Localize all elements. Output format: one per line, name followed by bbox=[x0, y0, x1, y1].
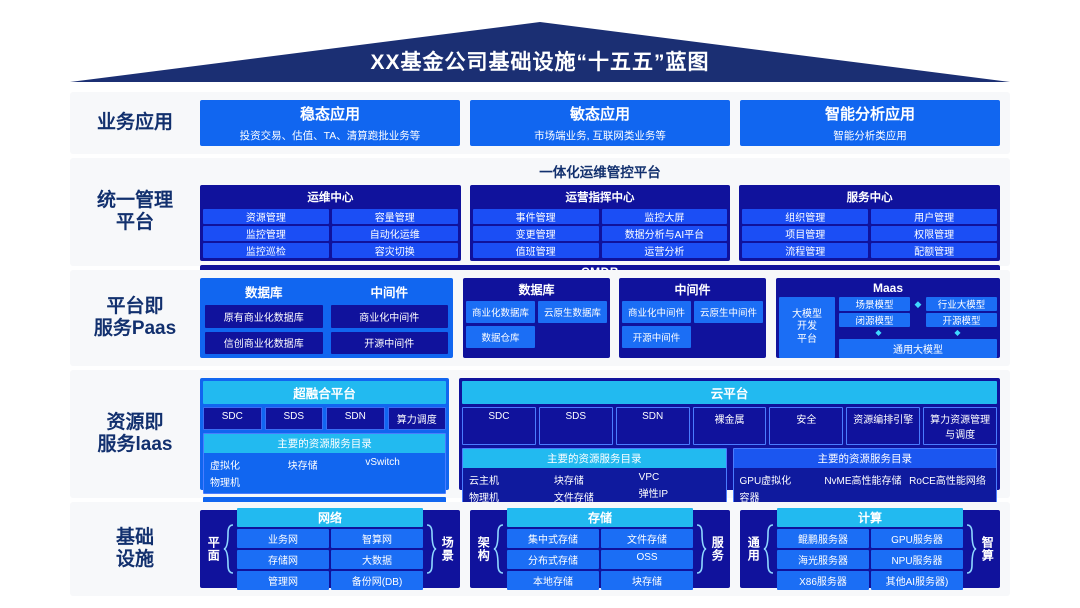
iaas-container: 超融合平台 SDC SDS SDN 算力调度 主要的资源服务目录 虚拟化 物理机 bbox=[200, 370, 1010, 498]
center-service[interactable]: 服务中心 组织管理 用户管理 项目管理 权限管理 流程管理 配额管理 bbox=[739, 185, 1000, 261]
app-card-stable[interactable]: 稳态应用 投资交易、估值、TA、清算跑批业务等 bbox=[200, 100, 460, 146]
management-centers: 运维中心 资源管理 容量管理 监控管理 自动化运维 监控巡检 容灾切换 运营指挥… bbox=[200, 185, 1000, 261]
center-cell[interactable]: 自动化运维 bbox=[332, 226, 458, 241]
infra-left-label: 架构 bbox=[476, 536, 490, 562]
row-label-paas: 平台即 服务Paas bbox=[70, 270, 200, 366]
maas-dev-platform[interactable]: 大模型 开发 平台 bbox=[779, 297, 835, 358]
paas-block-title: 中间件 bbox=[622, 281, 763, 298]
catalog-item: RoCE高性能网络 bbox=[909, 472, 990, 487]
maas-title: Maas bbox=[779, 281, 997, 295]
maas-dev-line1: 大模型 bbox=[792, 309, 822, 322]
row-label-line1: 统一管理 bbox=[97, 190, 173, 212]
row-label-line1: 平台即 bbox=[94, 296, 176, 318]
capability-tile[interactable]: SDC bbox=[203, 407, 262, 430]
paas-tile[interactable]: 商业化中间件 bbox=[331, 305, 449, 328]
infra-header: 网络 bbox=[237, 508, 423, 527]
infra-grid: 集中式存储 文件存储 分布式存储 OSS 本地存储 块存储 bbox=[507, 529, 693, 590]
management-wrap: 一体化运维管控平台 运维中心 资源管理 容量管理 监控管理 自动化运维 监控巡检… bbox=[200, 166, 1000, 258]
roof-banner: XX基金公司基础设施“十五五”蓝图 bbox=[70, 22, 1010, 82]
capability-tile[interactable]: 裸金属 bbox=[693, 407, 767, 445]
row-infrastructure: 基础 设施 平面 网络 业务网 智算网 存储网 大数据 bbox=[70, 502, 1010, 596]
brace-right-icon bbox=[696, 523, 707, 575]
catalog-column: 虚拟化 物理机 bbox=[210, 457, 284, 489]
arrow-up-icon: ◆ bbox=[918, 329, 997, 337]
infra-right-label: 智算 bbox=[980, 536, 994, 562]
brace-left-icon bbox=[763, 523, 774, 575]
catalog-column: vSwitch bbox=[365, 457, 439, 489]
center-title: 服务中心 bbox=[742, 188, 997, 207]
infra-core: 存储 集中式存储 文件存储 分布式存储 OSS 本地存储 块存储 bbox=[507, 508, 693, 590]
paas-maas-block[interactable]: Maas 大模型 开发 平台 场景模型 ◆ 行业大模型 bbox=[776, 278, 1000, 358]
catalog-item: 虚拟化 bbox=[210, 457, 284, 472]
center-grid: 组织管理 用户管理 项目管理 权限管理 流程管理 配额管理 bbox=[742, 209, 997, 258]
management-header: 一体化运维管控平台 bbox=[200, 166, 1000, 181]
maas-row-source: 闭源模型 开源模型 bbox=[839, 313, 997, 327]
center-ops[interactable]: 运维中心 资源管理 容量管理 监控管理 自动化运维 监控巡检 容灾切换 bbox=[200, 185, 461, 261]
paas-block-title: 数据库 bbox=[466, 281, 607, 298]
page-title: XX基金公司基础设施“十五五”蓝图 bbox=[70, 46, 1010, 76]
maas-general-model[interactable]: 通用大模型 bbox=[839, 339, 997, 358]
center-cell[interactable]: 监控大屏 bbox=[602, 209, 728, 224]
brace-left-icon bbox=[223, 523, 234, 575]
catalog-item: 块存储 bbox=[288, 457, 362, 472]
catalog-item: 云主机 bbox=[469, 472, 550, 487]
infra-core: 计算 鲲鹏服务器 GPU服务器 海光服务器 NPU服务器 X86服务器 其他AI… bbox=[777, 508, 963, 590]
center-cell[interactable]: 流程管理 bbox=[742, 243, 868, 258]
app-card-agile[interactable]: 敏态应用 市场端业务, 互联网类业务等 bbox=[470, 100, 730, 146]
center-cell[interactable]: 监控管理 bbox=[203, 226, 329, 241]
infra-grid: 业务网 智算网 存储网 大数据 管理网 备份网(DB) bbox=[237, 529, 423, 590]
paas-database-block[interactable]: 数据库 商业化数据库 云原生数据库 数据仓库 bbox=[463, 278, 610, 358]
app-subtitle: 智能分析类应用 bbox=[833, 128, 907, 143]
capability-row: SDC SDS SDN 裸金属 安全 资源编排引擎 算力资源管理与调度 bbox=[462, 407, 997, 445]
paas-tile[interactable]: 云原生中间件 bbox=[694, 301, 763, 323]
cloud-platform-block[interactable]: 云平台 SDC SDS SDN 裸金属 安全 资源编排引擎 算力资源管理与调度 … bbox=[459, 378, 1000, 490]
paas-tile[interactable]: 原有商业化数据库 bbox=[205, 305, 323, 328]
management-container: 一体化运维管控平台 运维中心 资源管理 容量管理 监控管理 自动化运维 监控巡检… bbox=[200, 158, 1010, 266]
center-cell[interactable]: 值班管理 bbox=[473, 243, 599, 258]
capability-tile[interactable]: 算力调度 bbox=[388, 407, 447, 430]
app-subtitle: 投资交易、估值、TA、清算跑批业务等 bbox=[240, 128, 421, 143]
infra-cell[interactable]: NPU服务器 bbox=[871, 550, 963, 569]
infra-cell[interactable]: 智算网 bbox=[331, 529, 423, 548]
infra-cell[interactable]: 分布式存储 bbox=[507, 550, 599, 569]
maas-arrow-row: ◆ ◆ bbox=[839, 329, 997, 337]
row-label-business: 业务应用 bbox=[70, 92, 200, 154]
row-business-application: 业务应用 稳态应用 投资交易、估值、TA、清算跑批业务等 敏态应用 市场端业务,… bbox=[70, 92, 1010, 154]
row-label-iaas: 资源即 服务laas bbox=[70, 370, 200, 498]
infra-cell[interactable]: 备份网(DB) bbox=[331, 571, 423, 590]
infra-block-compute[interactable]: 通用 计算 鲲鹏服务器 GPU服务器 海光服务器 NPU服务器 X86服务器 其… bbox=[740, 510, 1000, 588]
center-cell[interactable]: 容量管理 bbox=[332, 209, 458, 224]
maas-dev-line3: 平台 bbox=[792, 334, 822, 347]
platform-header: 超融合平台 bbox=[203, 381, 446, 404]
row-unified-management: 统一管理 平台 一体化运维管控平台 运维中心 资源管理 容量管理 监控管理 自动… bbox=[70, 158, 1010, 266]
paas-block-grid: 商业化数据库 云原生数据库 数据仓库 bbox=[466, 301, 607, 355]
diamond-connector-icon: ◆ bbox=[913, 297, 923, 311]
catalog-item: NvME高性能存储 bbox=[824, 472, 905, 487]
center-cell[interactable]: 监控巡检 bbox=[203, 243, 329, 258]
center-cell[interactable]: 运营分析 bbox=[602, 243, 728, 258]
hyperconverged-platform-block[interactable]: 超融合平台 SDC SDS SDN 算力调度 主要的资源服务目录 虚拟化 物理机 bbox=[200, 378, 449, 490]
paas-cloudnative-group: 数据库 商业化数据库 云原生数据库 数据仓库 中间件 商业化中间件 云原生中间件… bbox=[463, 278, 766, 358]
brace-right-icon bbox=[966, 523, 977, 575]
infra-block-storage[interactable]: 架构 存储 集中式存储 文件存储 分布式存储 OSS 本地存储 块存储 bbox=[470, 510, 730, 588]
platform-header: 云平台 bbox=[462, 381, 997, 404]
center-cell[interactable]: 配额管理 bbox=[871, 243, 997, 258]
infra-cell[interactable]: 本地存储 bbox=[507, 571, 599, 590]
capability-tile[interactable]: SDN bbox=[326, 407, 385, 430]
center-title: 运营指挥中心 bbox=[473, 188, 728, 207]
paas-col-title: 中间件 bbox=[331, 282, 449, 301]
row-label-line2: 服务Paas bbox=[94, 318, 176, 340]
catalog-column: 块存储 bbox=[288, 457, 362, 489]
center-cell[interactable]: 资源管理 bbox=[203, 209, 329, 224]
row-iaas: 资源即 服务laas 超融合平台 SDC SDS SDN 算力调度 主要的资源服… bbox=[70, 370, 1010, 498]
capability-tile[interactable]: 资源编排引擎 bbox=[846, 407, 920, 445]
row-label-infrastructure: 基础 设施 bbox=[70, 502, 200, 596]
catalog-wrap: 主要的资源服务目录 虚拟化 物理机 块存储 vSwitch bbox=[203, 433, 446, 494]
capability-tile[interactable]: 算力资源管理与调度 bbox=[923, 407, 997, 445]
center-cell[interactable]: 组织管理 bbox=[742, 209, 868, 224]
paas-tile[interactable]: 商业化数据库 bbox=[466, 301, 535, 323]
paas-block-grid: 商业化中间件 云原生中间件 开源中间件 bbox=[622, 301, 763, 355]
infra-cell[interactable]: 大数据 bbox=[331, 550, 423, 569]
paas-tile[interactable]: 信创商业化数据库 bbox=[205, 332, 323, 355]
center-cell[interactable]: 权限管理 bbox=[871, 226, 997, 241]
catalog-header: 主要的资源服务目录 bbox=[463, 449, 726, 468]
infra-right-label: 服务 bbox=[710, 536, 724, 562]
infra-left-label: 通用 bbox=[746, 536, 760, 562]
maas-dev-line2: 开发 bbox=[792, 321, 822, 334]
blueprint-page: XX基金公司基础设施“十五五”蓝图 业务应用 稳态应用 投资交易、估值、TA、清… bbox=[0, 0, 1080, 608]
center-cell[interactable]: 用户管理 bbox=[871, 209, 997, 224]
infra-grid: 鲲鹏服务器 GPU服务器 海光服务器 NPU服务器 X86服务器 其他AI服务器… bbox=[777, 529, 963, 590]
center-cell[interactable]: 变更管理 bbox=[473, 226, 599, 241]
capability-tile[interactable]: SDS bbox=[265, 407, 324, 430]
infra-header: 计算 bbox=[777, 508, 963, 527]
paas-container: 数据库 原有商业化数据库 信创商业化数据库 中间件 商业化中间件 开源中间件 数… bbox=[200, 270, 1010, 366]
center-operation-command[interactable]: 运营指挥中心 事件管理 监控大屏 变更管理 数据分析与AI平台 值班管理 运营分… bbox=[470, 185, 731, 261]
catalog-header: 主要的资源服务目录 bbox=[204, 434, 445, 453]
center-grid: 事件管理 监控大屏 变更管理 数据分析与AI平台 值班管理 运营分析 bbox=[473, 209, 728, 258]
paas-col-title: 数据库 bbox=[205, 282, 323, 301]
brace-right-icon bbox=[426, 523, 437, 575]
catalog-body: 虚拟化 物理机 块存储 vSwitch bbox=[204, 453, 445, 493]
maas-grid: 场景模型 ◆ 行业大模型 闭源模型 开源模型 ◆ ◆ bbox=[839, 297, 997, 358]
infra-cell[interactable]: 海光服务器 bbox=[777, 550, 869, 569]
center-title: 运维中心 bbox=[203, 188, 458, 207]
row-paas: 平台即 服务Paas 数据库 原有商业化数据库 信创商业化数据库 中间件 商业化… bbox=[70, 270, 1010, 366]
paas-tile-empty bbox=[694, 326, 763, 348]
business-apps-container: 稳态应用 投资交易、估值、TA、清算跑批业务等 敏态应用 市场端业务, 互联网类… bbox=[200, 92, 1010, 154]
paas-tile[interactable]: 数据仓库 bbox=[466, 326, 535, 348]
infra-cell[interactable]: 管理网 bbox=[237, 571, 329, 590]
infra-core: 网络 业务网 智算网 存储网 大数据 管理网 备份网(DB) bbox=[237, 508, 423, 590]
center-cell[interactable]: 项目管理 bbox=[742, 226, 868, 241]
spacer bbox=[913, 313, 923, 327]
capability-tile[interactable]: SDS bbox=[539, 407, 613, 445]
center-cell[interactable]: 容灾切换 bbox=[332, 243, 458, 258]
resource-catalog: 主要的资源服务目录 虚拟化 物理机 块存储 vSwitch bbox=[203, 433, 446, 494]
capability-tile[interactable]: 安全 bbox=[769, 407, 843, 445]
infra-cell[interactable]: 集中式存储 bbox=[507, 529, 599, 548]
brace-left-icon bbox=[493, 523, 504, 575]
capability-row: SDC SDS SDN 算力调度 bbox=[203, 407, 446, 430]
catalog-item: vSwitch bbox=[365, 457, 439, 468]
row-label-line2: 平台 bbox=[97, 212, 173, 234]
infra-cell[interactable]: X86服务器 bbox=[777, 571, 869, 590]
infra-cell[interactable]: 业务网 bbox=[237, 529, 329, 548]
row-label-line1: 基础 bbox=[116, 527, 154, 549]
infra-cell[interactable]: 其他AI服务器) bbox=[871, 571, 963, 590]
infra-left-label: 平面 bbox=[206, 536, 220, 562]
infra-block-network[interactable]: 平面 网络 业务网 智算网 存储网 大数据 管理网 备份网(DB) bbox=[200, 510, 460, 588]
catalog-item: 块存储 bbox=[554, 472, 635, 487]
infra-cell[interactable]: 存储网 bbox=[237, 550, 329, 569]
infra-cell[interactable]: 鲲鹏服务器 bbox=[777, 529, 869, 548]
arrow-up-icon: ◆ bbox=[839, 329, 918, 337]
paas-legacy-middleware-col: 中间件 商业化中间件 开源中间件 bbox=[331, 282, 449, 354]
infra-cell[interactable]: GPU服务器 bbox=[871, 529, 963, 548]
catalog-header: 主要的资源服务目录 bbox=[734, 449, 997, 468]
app-card-intelligent-analytics[interactable]: 智能分析应用 智能分析类应用 bbox=[740, 100, 1000, 146]
paas-tile[interactable]: 开源中间件 bbox=[331, 332, 449, 355]
center-cell[interactable]: 数据分析与AI平台 bbox=[602, 226, 728, 241]
catalog-item: VPC bbox=[639, 472, 720, 483]
infra-right-label: 场景 bbox=[440, 536, 454, 562]
paas-tile[interactable]: 云原生数据库 bbox=[538, 301, 607, 323]
app-title: 敏态应用 bbox=[570, 103, 630, 124]
paas-tile[interactable]: 开源中间件 bbox=[622, 326, 691, 348]
capability-tile[interactable]: SDC bbox=[462, 407, 536, 445]
capability-tile[interactable]: SDN bbox=[616, 407, 690, 445]
infrastructure-container: 平面 网络 业务网 智算网 存储网 大数据 管理网 备份网(DB) bbox=[200, 502, 1010, 596]
infra-cell[interactable]: OSS bbox=[601, 550, 693, 569]
infra-cell[interactable]: 文件存储 bbox=[601, 529, 693, 548]
paas-legacy-block[interactable]: 数据库 原有商业化数据库 信创商业化数据库 中间件 商业化中间件 开源中间件 bbox=[200, 278, 453, 358]
paas-tile[interactable]: 商业化中间件 bbox=[622, 301, 691, 323]
maas-tile[interactable]: 行业大模型 bbox=[926, 297, 997, 311]
paas-tile-empty bbox=[538, 326, 607, 348]
row-label-management: 统一管理 平台 bbox=[70, 158, 200, 266]
infra-header: 存储 bbox=[507, 508, 693, 527]
maas-body: 大模型 开发 平台 场景模型 ◆ 行业大模型 闭源模型 bbox=[779, 297, 997, 358]
maas-tile[interactable]: 闭源模型 bbox=[839, 313, 910, 327]
infra-cell[interactable]: 块存储 bbox=[601, 571, 693, 590]
paas-legacy-database-col: 数据库 原有商业化数据库 信创商业化数据库 bbox=[205, 282, 323, 354]
app-title: 智能分析应用 bbox=[825, 103, 915, 124]
row-label-line2: 设施 bbox=[116, 549, 154, 571]
app-subtitle: 市场端业务, 互联网类业务等 bbox=[534, 128, 666, 143]
center-cell[interactable]: 事件管理 bbox=[473, 209, 599, 224]
catalog-item: 物理机 bbox=[210, 474, 284, 489]
row-label-line2: 服务laas bbox=[98, 434, 173, 456]
catalog-item: GPU虚拟化 bbox=[740, 472, 821, 487]
center-grid: 资源管理 容量管理 监控管理 自动化运维 监控巡检 容灾切换 bbox=[203, 209, 458, 258]
catalog-item: 弹性IP bbox=[639, 485, 720, 500]
maas-row-scenario: 场景模型 ◆ 行业大模型 bbox=[839, 297, 997, 311]
maas-tile[interactable]: 开源模型 bbox=[926, 313, 997, 327]
row-label-line1: 资源即 bbox=[98, 412, 173, 434]
maas-tile[interactable]: 场景模型 bbox=[839, 297, 910, 311]
app-title: 稳态应用 bbox=[300, 103, 360, 124]
paas-middleware-block[interactable]: 中间件 商业化中间件 云原生中间件 开源中间件 bbox=[619, 278, 766, 358]
